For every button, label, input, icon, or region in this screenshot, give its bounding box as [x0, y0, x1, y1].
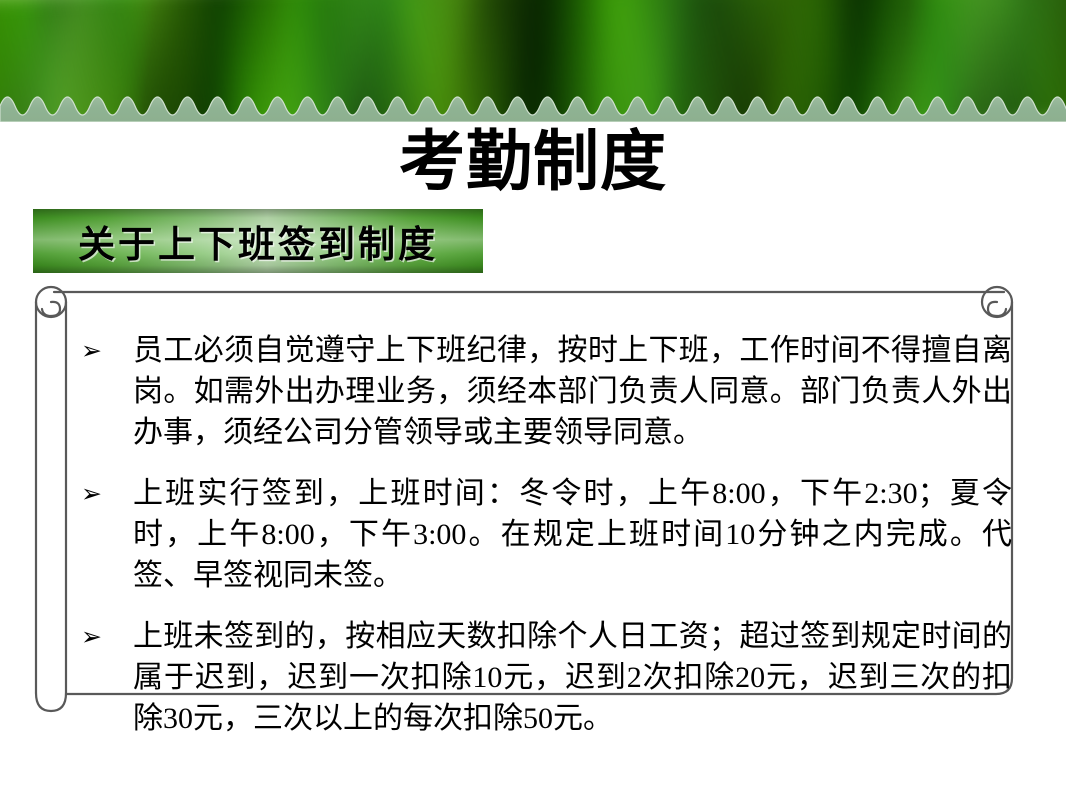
list-item: ➢ 员工必须自觉遵守上下班纪律，按时上下班，工作时间不得擅自离岗。如需外出办理业…	[72, 330, 1012, 453]
list-item: ➢ 上班未签到的，按相应天数扣除个人日工资；超过签到规定时间的属于迟到，迟到一次…	[72, 616, 1012, 739]
arrow-bullet-icon: ➢	[72, 616, 133, 657]
list-item-text: 上班实行签到，上班时间：冬令时，上午8:00，下午2:30；夏令时，上午8:00…	[133, 473, 1012, 596]
arrow-bullet-icon: ➢	[72, 473, 133, 514]
list-item-text: 上班未签到的，按相应天数扣除个人日工资；超过签到规定时间的属于迟到，迟到一次扣除…	[133, 616, 1012, 739]
header-banner-image	[0, 0, 1066, 122]
list-item-text: 员工必须自觉遵守上下班纪律，按时上下班，工作时间不得擅自离岗。如需外出办理业务，…	[133, 330, 1012, 453]
list-item: ➢ 上班实行签到，上班时间：冬令时，上午8:00，下午2:30；夏令时，上午8:…	[72, 473, 1012, 596]
policy-bullet-list: ➢ 员工必须自觉遵守上下班纪律，按时上下班，工作时间不得擅自离岗。如需外出办理业…	[72, 330, 1012, 739]
section-heading-banner: 关于上下班签到制度	[33, 209, 483, 273]
scalloped-edge-decoration	[0, 80, 1066, 122]
section-heading-text: 关于上下班签到制度	[78, 214, 438, 268]
arrow-bullet-icon: ➢	[72, 330, 133, 371]
slide-title: 考勤制度	[0, 122, 1066, 202]
presentation-slide: 考勤制度 关于上下班签到制度 ➢ 员工必须自觉遵守上下班纪律，按时上下班	[0, 0, 1066, 796]
